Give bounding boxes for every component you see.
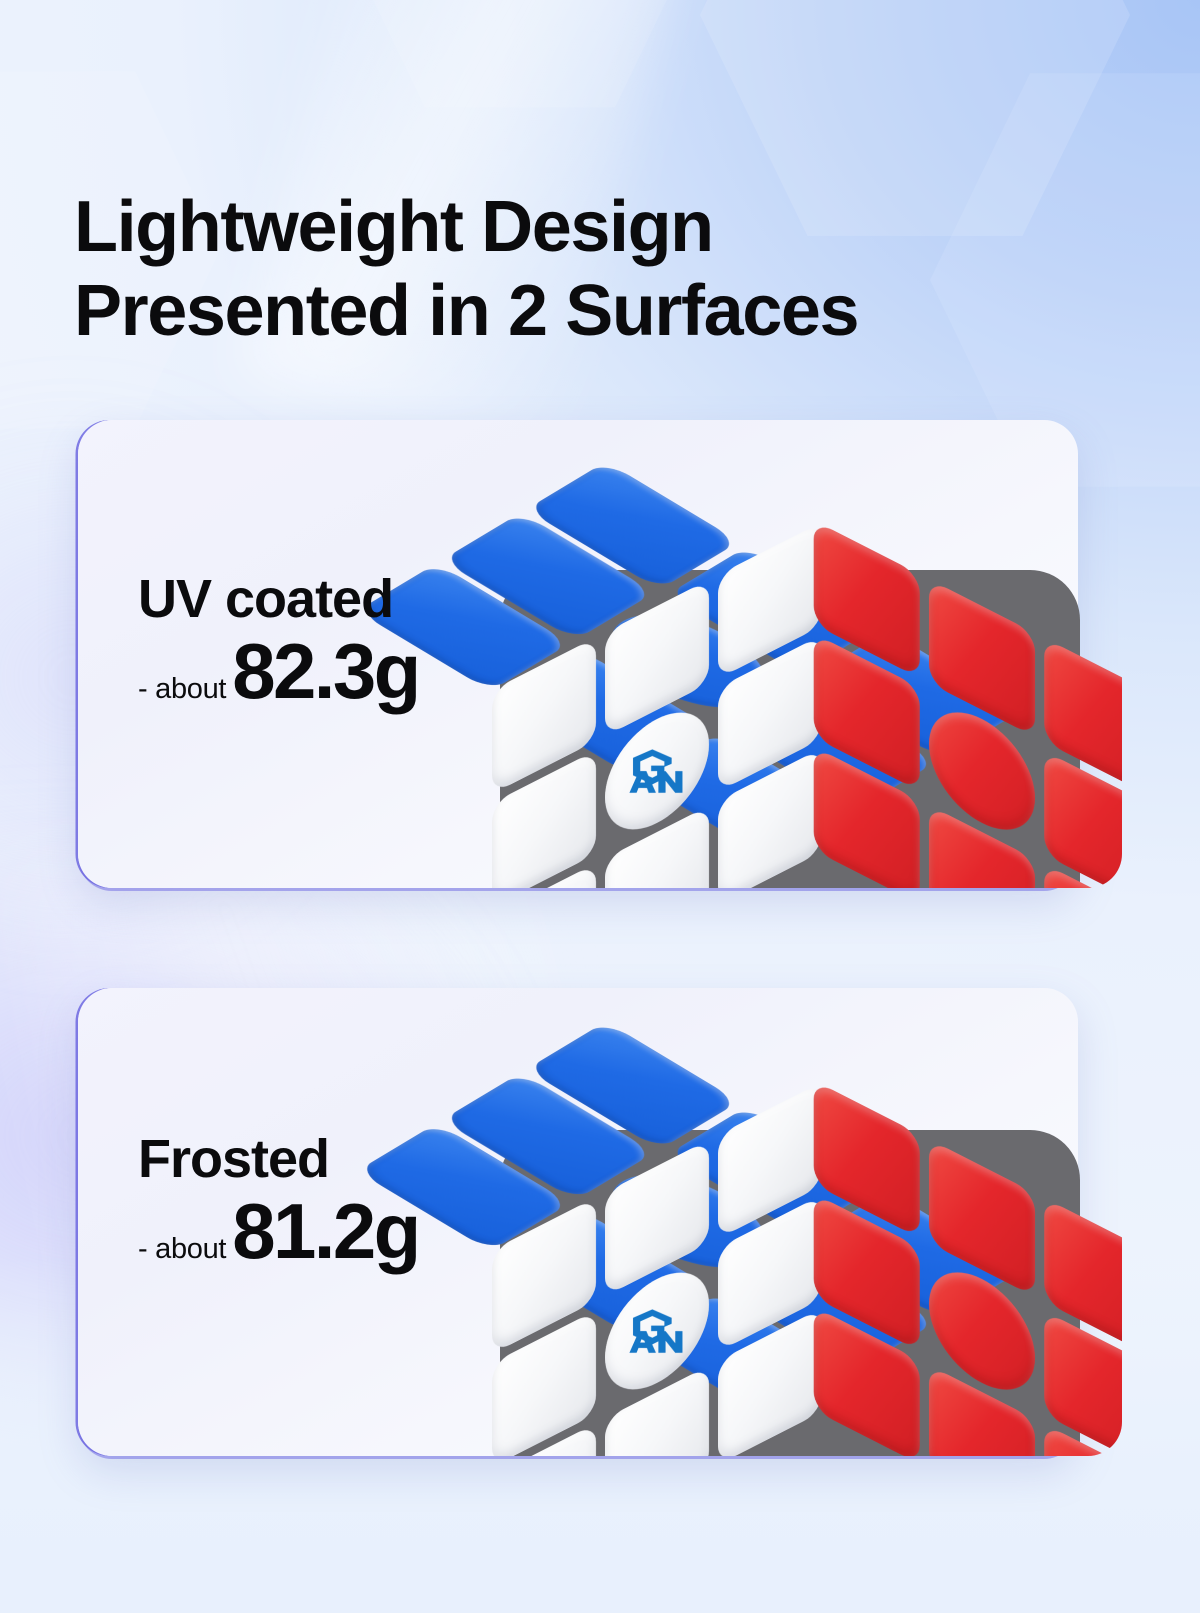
card-title: UV coated (138, 572, 419, 626)
card-weight-value: 81.2g (232, 1192, 418, 1270)
card-label-uv-coated: UV coated - about 82.3g (138, 572, 419, 710)
headline-line-1: Lightweight Design (74, 186, 1034, 270)
rubiks-cube (430, 420, 1122, 888)
card-label-frosted: Frosted - about 81.2g (138, 1132, 419, 1270)
headline-line-2: Presented in 2 Surfaces (74, 270, 1034, 354)
product-image-frosted (430, 980, 1122, 1456)
card-about-prefix: - about (138, 673, 226, 710)
page-title: Lightweight Design Presented in 2 Surfac… (74, 186, 1034, 353)
card-about-prefix: - about (138, 1233, 226, 1270)
card-weight-row: - about 82.3g (138, 632, 419, 710)
product-image-uv-coated (430, 420, 1122, 888)
gan-logo-icon (627, 1301, 687, 1361)
rubiks-cube (430, 980, 1122, 1456)
card-weight-row: - about 81.2g (138, 1192, 419, 1270)
card-title: Frosted (138, 1132, 419, 1186)
gan-logo-icon (627, 741, 687, 801)
card-weight-value: 82.3g (232, 632, 418, 710)
